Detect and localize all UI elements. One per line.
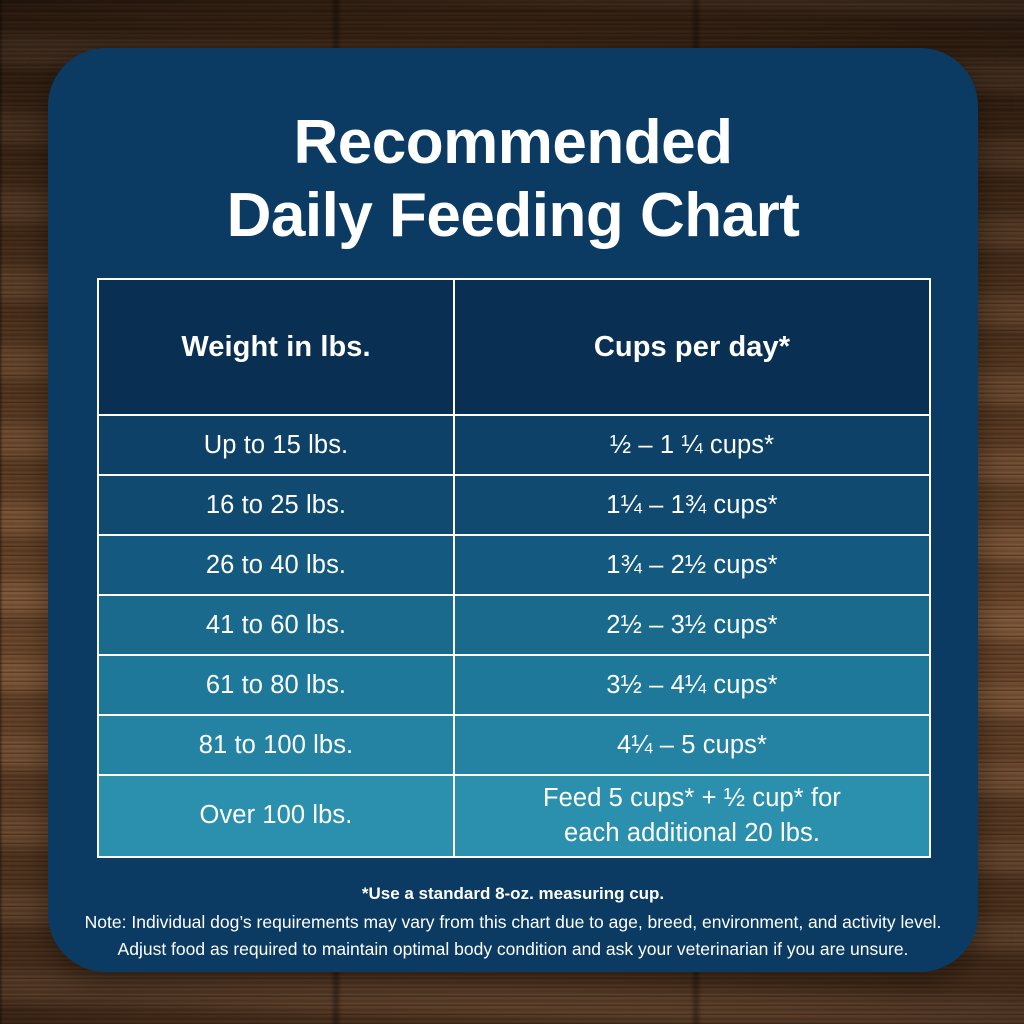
cell-weight: 16 to 25 lbs. bbox=[98, 475, 454, 535]
cell-cups: Feed 5 cups* + ½ cup* for each additiona… bbox=[454, 775, 930, 857]
cell-weight: 61 to 80 lbs. bbox=[98, 655, 454, 715]
cell-cups: ½ – 1 ¼ cups* bbox=[454, 415, 930, 475]
table-row: 61 to 80 lbs. 3½ – 4¼ cups* bbox=[98, 655, 930, 715]
table-header-row: Weight in lbs. Cups per day* bbox=[98, 279, 930, 415]
table-row: 26 to 40 lbs. 1¾ – 2½ cups* bbox=[98, 535, 930, 595]
page-title-line-1: Recommended bbox=[48, 106, 978, 179]
table-row: 16 to 25 lbs. 1¼ – 1¾ cups* bbox=[98, 475, 930, 535]
footnote-note-line-1: Note: Individual dog’s requirements may … bbox=[48, 909, 978, 936]
table-row: 41 to 60 lbs. 2½ – 3½ cups* bbox=[98, 595, 930, 655]
cell-weight: Over 100 lbs. bbox=[98, 775, 454, 857]
table-row: Over 100 lbs. Feed 5 cups* + ½ cup* for … bbox=[98, 775, 930, 857]
cell-cups-line-1: Feed 5 cups* + ½ cup* for bbox=[455, 781, 929, 816]
page-title-line-2: Daily Feeding Chart bbox=[48, 179, 978, 252]
table-row: Up to 15 lbs. ½ – 1 ¼ cups* bbox=[98, 415, 930, 475]
cell-cups: 2½ – 3½ cups* bbox=[454, 595, 930, 655]
cell-cups: 1¾ – 2½ cups* bbox=[454, 535, 930, 595]
cell-weight: 41 to 60 lbs. bbox=[98, 595, 454, 655]
footnote-measuring-cup: *Use a standard 8-oz. measuring cup. bbox=[48, 884, 978, 904]
cell-cups: 4¼ – 5 cups* bbox=[454, 715, 930, 775]
table-row: 81 to 100 lbs. 4¼ – 5 cups* bbox=[98, 715, 930, 775]
cell-cups-line-2: each additional 20 lbs. bbox=[455, 816, 929, 851]
cell-weight: 81 to 100 lbs. bbox=[98, 715, 454, 775]
cell-weight: Up to 15 lbs. bbox=[98, 415, 454, 475]
footnotes: *Use a standard 8-oz. measuring cup. Not… bbox=[48, 884, 978, 962]
table-body: Up to 15 lbs. ½ – 1 ¼ cups* 16 to 25 lbs… bbox=[98, 415, 930, 857]
cell-cups: 1¼ – 1¾ cups* bbox=[454, 475, 930, 535]
table-header: Weight in lbs. Cups per day* bbox=[98, 279, 930, 415]
column-header-weight: Weight in lbs. bbox=[98, 279, 454, 415]
cell-cups: 3½ – 4¼ cups* bbox=[454, 655, 930, 715]
column-header-cups: Cups per day* bbox=[454, 279, 930, 415]
page-title: Recommended Daily Feeding Chart bbox=[48, 106, 978, 252]
footnote-note-line-2: Adjust food as required to maintain opti… bbox=[48, 936, 978, 963]
cell-weight: 26 to 40 lbs. bbox=[98, 535, 454, 595]
feeding-chart-table: Weight in lbs. Cups per day* Up to 15 lb… bbox=[97, 278, 931, 858]
feeding-chart-card: Recommended Daily Feeding Chart Weight i… bbox=[48, 48, 978, 972]
